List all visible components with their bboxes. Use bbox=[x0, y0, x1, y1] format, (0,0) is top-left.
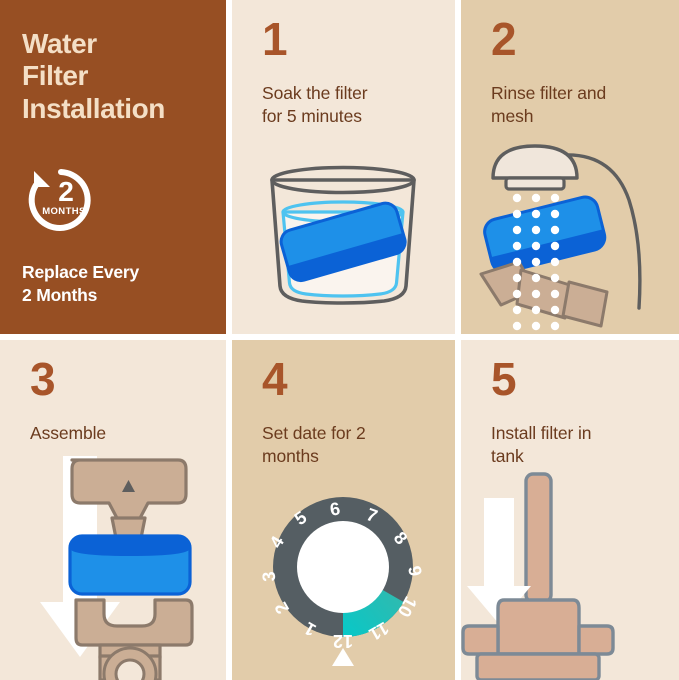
step-panel-5: 5 Install filter in tank bbox=[461, 340, 679, 680]
step-1-line-2: for 5 minutes bbox=[262, 105, 441, 128]
step-panel-1: 1 Soak the filter for 5 minutes bbox=[232, 0, 455, 334]
step-text-2: Rinse filter and mesh bbox=[491, 82, 665, 129]
step-4-illustration: 1 2 3 4 5 6 7 8 9 10 11 12 bbox=[232, 490, 455, 680]
step-panel-3: 3 Assemble bbox=[0, 340, 226, 680]
step-panel-2: 2 Rinse filter and mesh bbox=[461, 0, 679, 334]
step-2-line-1: Rinse filter and bbox=[491, 82, 665, 105]
replace-interval-badge: 2 MONTHS bbox=[22, 161, 100, 239]
title-line-3: Installation bbox=[22, 93, 204, 125]
step-3-illustration bbox=[0, 452, 226, 680]
dial-number-3: 3 bbox=[259, 571, 280, 583]
step-number-3: 3 bbox=[30, 356, 56, 402]
title-line-1: Water bbox=[22, 28, 204, 60]
step-1-illustration bbox=[232, 140, 455, 334]
install-filter-in-tank-icon bbox=[461, 468, 679, 680]
infographic-grid: Water Filter Installation 2 MONTHS Repla… bbox=[0, 0, 679, 680]
step-number-4: 4 bbox=[262, 356, 288, 402]
step-4-line-1: Set date for 2 bbox=[262, 422, 441, 445]
step-3-line-1: Assemble bbox=[30, 422, 212, 445]
badge-number: 2 bbox=[58, 176, 74, 207]
step-number-1: 1 bbox=[262, 16, 288, 62]
replace-line-2: 2 Months bbox=[22, 284, 204, 306]
step-4-line-2: months bbox=[262, 445, 441, 468]
replace-line-1: Replace Every bbox=[22, 261, 204, 283]
step-panel-4: 4 Set date for 2 months bbox=[232, 340, 455, 680]
assembly-diagram-icon bbox=[0, 452, 226, 680]
badge-unit: MONTHS bbox=[42, 206, 86, 217]
dial-number-9: 9 bbox=[404, 564, 425, 577]
step-number-2: 2 bbox=[491, 16, 517, 62]
step-1-line-1: Soak the filter bbox=[262, 82, 441, 105]
step-text-1: Soak the filter for 5 minutes bbox=[262, 82, 441, 129]
step-text-5: Install filter in tank bbox=[491, 422, 665, 469]
step-5-line-1: Install filter in bbox=[491, 422, 665, 445]
page-title: Water Filter Installation bbox=[22, 28, 204, 125]
step-text-3: Assemble bbox=[30, 422, 212, 445]
step-number-5: 5 bbox=[491, 356, 517, 402]
step-text-4: Set date for 2 months bbox=[262, 422, 441, 469]
title-line-2: Filter bbox=[22, 60, 204, 92]
replace-instruction: Replace Every 2 Months bbox=[22, 261, 204, 306]
step-5-illustration bbox=[461, 468, 679, 680]
step-2-illustration bbox=[461, 140, 679, 334]
month-dial-icon: 1 2 3 4 5 6 7 8 9 10 11 12 bbox=[232, 490, 455, 680]
step-2-line-2: mesh bbox=[491, 105, 665, 128]
glass-of-water-icon bbox=[232, 140, 455, 334]
step-5-line-2: tank bbox=[491, 445, 665, 468]
circular-arrow-refresh-icon: 2 MONTHS bbox=[22, 161, 100, 239]
title-panel: Water Filter Installation 2 MONTHS Repla… bbox=[0, 0, 226, 334]
showerhead-rinse-icon bbox=[461, 140, 679, 334]
